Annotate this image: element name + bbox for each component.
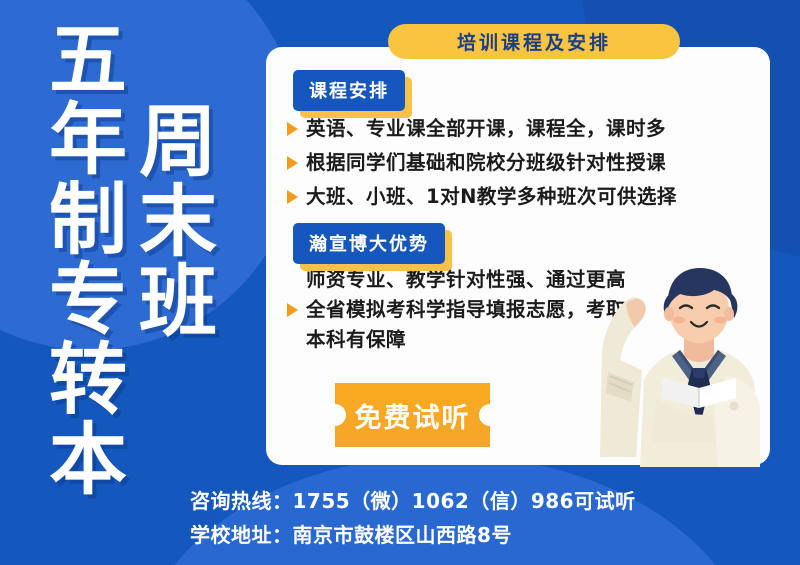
triangle-bullet-icon [287,303,298,317]
advantages-text: 师资专业、教学针对性强、通过更高 全省模拟考科学指导填报志愿，考取 本科有保障 [306,265,626,355]
free-trial-button[interactable]: 免费试听 [335,383,490,447]
ticket-notch-left-icon [324,404,346,426]
hotline-text: 咨询热线：1755（微）1062（信）986可试听 [190,484,636,518]
headline-column-primary: 五年制专转本 [42,18,120,498]
student-with-book-illustration [600,252,790,467]
list-item: 大班、小班、1对N教学多种班次可供选择 [287,182,677,211]
address-text: 学校地址：南京市鼓楼区山西路8号 [190,518,636,552]
advantages-line: 全省模拟考科学指导填报志愿，考取 [306,295,626,325]
list-item: 英语、专业课全部开课，课程全，课时多 [287,114,677,143]
vertical-headline: 五年制专转本 周末班 [0,0,270,565]
triangle-bullet-icon [287,156,298,170]
advantages-block: 师资专业、教学针对性强、通过更高 全省模拟考科学指导填报志愿，考取 本科有保障 [287,265,626,355]
section-advantages-badge: 瀚宣博大优势 [293,223,445,264]
list-item: 根据同学们基础和院校分班级针对性授课 [287,148,677,177]
top-banner-pill: 培训课程及安排 [388,24,680,59]
ticket-notch-right-icon [479,404,501,426]
list-item-label: 大班、小班、1对N教学多种班次可供选择 [306,182,677,211]
advantages-line: 本科有保障 [306,325,626,355]
course-schedule-list: 英语、专业课全部开课，课程全，课时多 根据同学们基础和院校分班级针对性授课 大班… [287,114,677,216]
free-trial-button-label: 免费试听 [355,396,471,435]
triangle-bullet-icon [287,190,298,204]
badge-label: 课程安排 [293,70,405,111]
contact-info: 咨询热线：1755（微）1062（信）986可试听 学校地址：南京市鼓楼区山西路… [190,484,636,552]
section-course-schedule-badge: 课程安排 [293,70,405,111]
list-item-label: 英语、专业课全部开课，课程全，课时多 [306,114,666,143]
badge-label: 瀚宣博大优势 [293,223,445,264]
triangle-bullet-icon [287,122,298,136]
list-item-label: 根据同学们基础和院校分班级针对性授课 [306,148,666,177]
headline-column-secondary: 周末班 [132,100,210,340]
